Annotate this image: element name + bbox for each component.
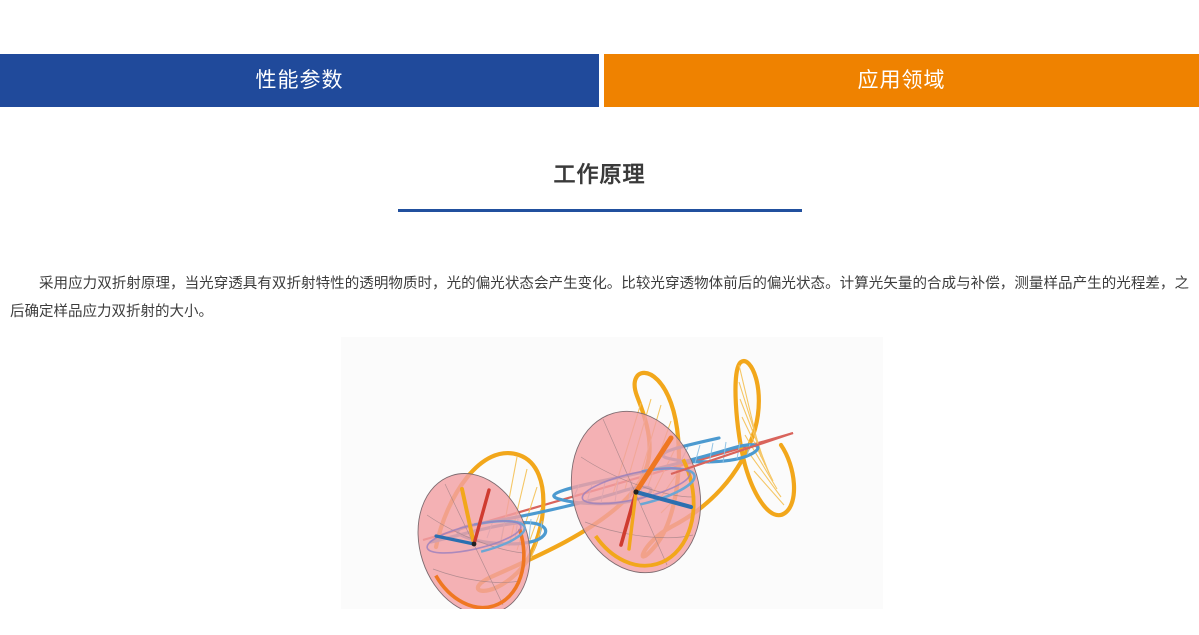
title-underline [398,209,802,212]
tab-application-fields[interactable]: 应用领域 [604,54,1199,107]
principle-description: 采用应力双折射原理，当光穿透具有双折射特性的透明物质时，光的偏光状态会产生变化。… [0,270,1199,326]
tab-performance-params-label: 性能参数 [256,70,344,91]
polarization-illustration [341,337,883,609]
page-title: 工作原理 [0,160,1199,190]
tab-performance-params[interactable]: 性能参数 [0,54,599,107]
section-header: 工作原理 [0,160,1199,212]
wavefront-disc-left [400,459,547,609]
propagation-axis-right [671,433,793,474]
tab-application-fields-label: 应用领域 [858,70,946,91]
wavefront-disc-middle [553,396,719,588]
tab-bar: 性能参数 应用领域 [0,54,1199,107]
working-principle-figure [341,337,883,609]
